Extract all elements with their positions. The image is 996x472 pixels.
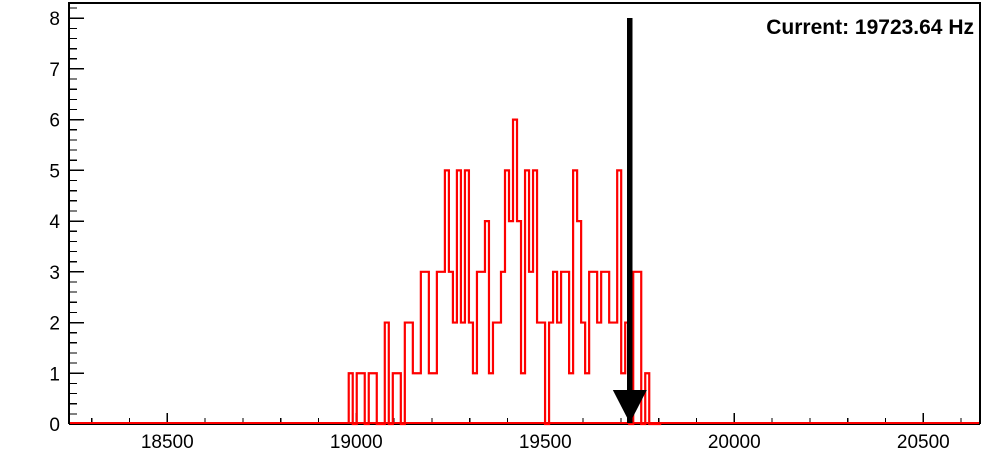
x-tick-label: 20500	[897, 432, 950, 453]
y-tick-label: 6	[49, 111, 60, 132]
histogram-outline	[349, 120, 662, 424]
chart-root: 1850019000195002000020500 012345678 Curr…	[0, 0, 996, 472]
x-tick-label: 18500	[141, 432, 194, 453]
histogram-series	[70, 120, 979, 424]
y-tick-label: 8	[49, 9, 60, 30]
x-axis-tick-labels: 1850019000195002000020500	[141, 432, 950, 453]
y-tick-label: 4	[49, 212, 60, 233]
y-tick-label: 3	[49, 263, 60, 284]
y-axis-ticks	[69, 8, 84, 424]
x-tick-label: 20000	[708, 432, 761, 453]
y-tick-label: 1	[49, 364, 60, 385]
x-tick-label: 19500	[519, 432, 572, 453]
histogram-plot: 1850019000195002000020500 012345678	[0, 0, 996, 472]
y-tick-label: 7	[49, 60, 60, 81]
y-tick-label: 0	[49, 415, 60, 436]
x-tick-label: 19000	[330, 432, 383, 453]
y-tick-label: 2	[49, 314, 60, 335]
y-axis-tick-labels: 012345678	[49, 9, 60, 436]
current-value-readout: Current: 19723.64 Hz	[766, 16, 974, 40]
y-tick-label: 5	[49, 161, 60, 182]
